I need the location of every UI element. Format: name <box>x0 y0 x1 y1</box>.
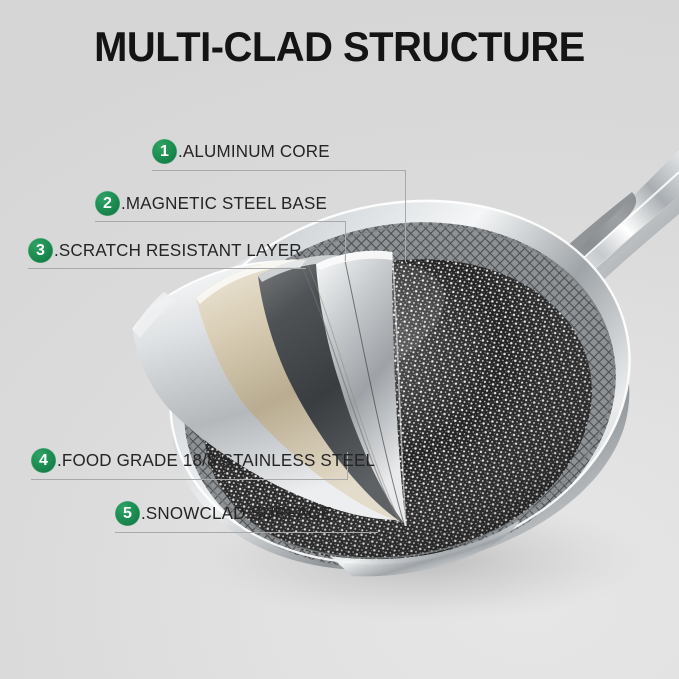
callout-2-magnetic-steel-base[interactable]: 2 .MAGNETIC STEEL BASE <box>95 191 333 216</box>
leader-line-2-horizontal <box>95 221 346 222</box>
callout-5-badge: 5 <box>115 501 140 526</box>
callout-2-badge: 2 <box>95 191 120 216</box>
callout-3-label: .SCRATCH RESISTANT LAYER <box>54 240 302 261</box>
callout-1-badge: 1 <box>152 139 177 164</box>
callout-3-badge: 3 <box>28 238 53 263</box>
callout-1-aluminum-core[interactable]: 1 .ALUMINUM CORE <box>152 139 334 164</box>
leader-line-1-vertical <box>405 170 406 262</box>
callout-5-snowclad-surface[interactable]: 5 .SNOWCLAD SURFACE <box>115 501 338 526</box>
leader-line-1-horizontal <box>152 170 406 171</box>
leader-line-5-horizontal <box>115 532 378 533</box>
infographic-canvas: MULTI-CLAD STRUCTURE 1 .ALUMINUM CORE 2 … <box>0 0 679 679</box>
leader-line-2-vertical <box>345 221 346 261</box>
leader-line-4-horizontal <box>31 479 348 480</box>
product-illustration <box>0 0 679 679</box>
callout-5-label: .SNOWCLAD SURFACE <box>141 503 332 524</box>
callout-2-label: .MAGNETIC STEEL BASE <box>121 193 327 214</box>
leader-line-3-horizontal <box>28 268 306 269</box>
callout-4-label: .FOOD GRADE 18/8 STAINLESS STEEL <box>57 450 375 471</box>
callout-4-food-grade-stainless-steel[interactable]: 4 .FOOD GRADE 18/8 STAINLESS STEEL <box>31 448 385 473</box>
callout-1-label: .ALUMINUM CORE <box>178 141 330 162</box>
page-title: MULTI-CLAD STRUCTURE <box>17 24 662 70</box>
callout-3-scratch-resistant-layer[interactable]: 3 .SCRATCH RESISTANT LAYER <box>28 238 309 263</box>
callout-4-badge: 4 <box>31 448 56 473</box>
